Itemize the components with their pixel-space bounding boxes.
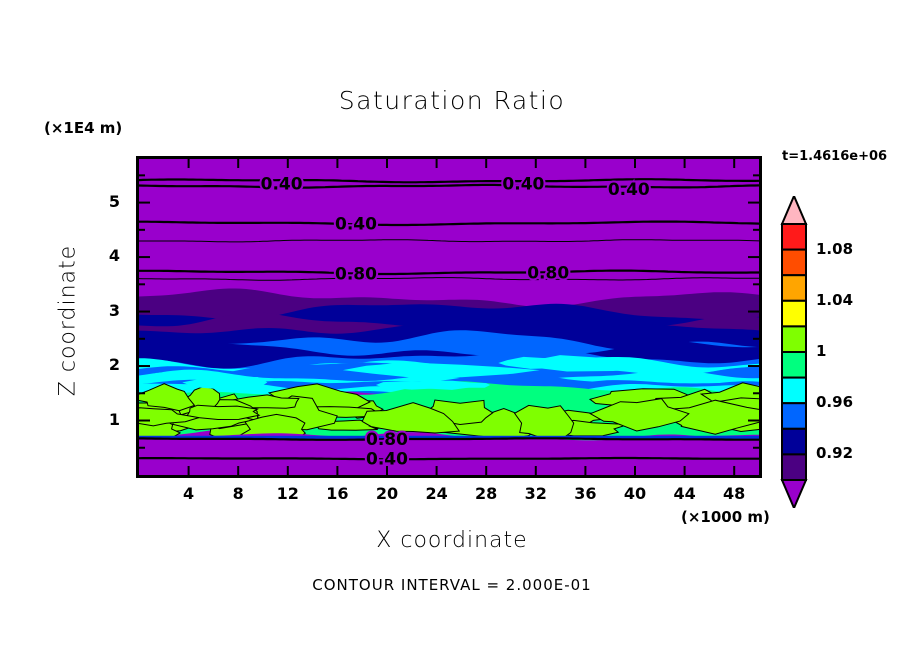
y-tick-5: 5 — [96, 192, 120, 211]
contour-line — [139, 438, 759, 440]
y-tick-4: 4 — [96, 246, 120, 265]
colorbar-label-0.92: 0.92 — [816, 444, 853, 462]
colorbar-cap-top — [782, 196, 806, 224]
colorbar-cap-bottom — [782, 480, 806, 508]
colorbar-band — [782, 250, 806, 276]
colorbar-band — [782, 301, 806, 327]
contour-label: 0.80 — [366, 430, 408, 450]
contour-label: 0.40 — [608, 180, 650, 200]
y-axis-title: Z coordinate — [56, 221, 81, 421]
colorbar-band — [782, 454, 806, 480]
contour-line — [139, 278, 759, 281]
contour-label: 0.40 — [335, 214, 377, 234]
x-axis-unit-label: (×1000 m) — [681, 508, 770, 526]
colorbar-band — [782, 352, 806, 378]
x-tick-24: 24 — [417, 484, 457, 503]
colorbar-label-1.04: 1.04 — [816, 291, 853, 309]
colorbar-band — [782, 224, 806, 250]
colorbar-swatches — [780, 196, 808, 508]
contour-line — [139, 271, 759, 274]
x-tick-28: 28 — [466, 484, 506, 503]
x-tick-16: 16 — [317, 484, 357, 503]
contour-line — [139, 458, 759, 459]
contour-line — [139, 185, 759, 188]
x-tick-44: 44 — [665, 484, 705, 503]
colorbar-band — [782, 378, 806, 404]
colorbar[interactable] — [780, 196, 808, 508]
contour-line — [139, 240, 759, 242]
colorbar-label-1.08: 1.08 — [816, 240, 853, 258]
y-tick-3: 3 — [96, 301, 120, 320]
x-tick-32: 32 — [516, 484, 556, 503]
x-tick-12: 12 — [268, 484, 308, 503]
y-tick-2: 2 — [96, 355, 120, 374]
x-tick-40: 40 — [615, 484, 655, 503]
x-tick-20: 20 — [367, 484, 407, 503]
contour-label: 0.40 — [261, 175, 303, 195]
timestamp-label: t=1.4616e+06 — [782, 149, 887, 164]
contour-interval-caption: CONTOUR INTERVAL = 2.000E-01 — [0, 576, 904, 594]
page-title: Saturation Ratio — [0, 86, 904, 115]
x-tick-48: 48 — [714, 484, 754, 503]
x-tick-4: 4 — [169, 484, 209, 503]
contour-label: 0.40 — [502, 175, 544, 195]
colorbar-band — [782, 429, 806, 455]
colorbar-band — [782, 403, 806, 429]
x-axis-title: X coordinate — [0, 528, 904, 553]
y-axis-unit-label: (×1E4 m) — [44, 119, 122, 137]
contour-line — [139, 179, 759, 182]
colorbar-band — [782, 275, 806, 301]
contour-label: 0.80 — [335, 264, 377, 284]
contour-label: 0.80 — [527, 263, 569, 283]
contour-plot-area: 0.400.400.400.400.800.800.800.40 — [136, 156, 762, 478]
x-tick-8: 8 — [218, 484, 258, 503]
y-tick-1: 1 — [96, 410, 120, 429]
x-tick-36: 36 — [565, 484, 605, 503]
contour-line — [139, 222, 759, 225]
colorbar-label-1: 1 — [816, 342, 826, 360]
colorbar-band — [782, 326, 806, 352]
contour-field: 0.400.400.400.400.800.800.800.40 — [139, 159, 759, 475]
colorbar-label-0.96: 0.96 — [816, 393, 853, 411]
